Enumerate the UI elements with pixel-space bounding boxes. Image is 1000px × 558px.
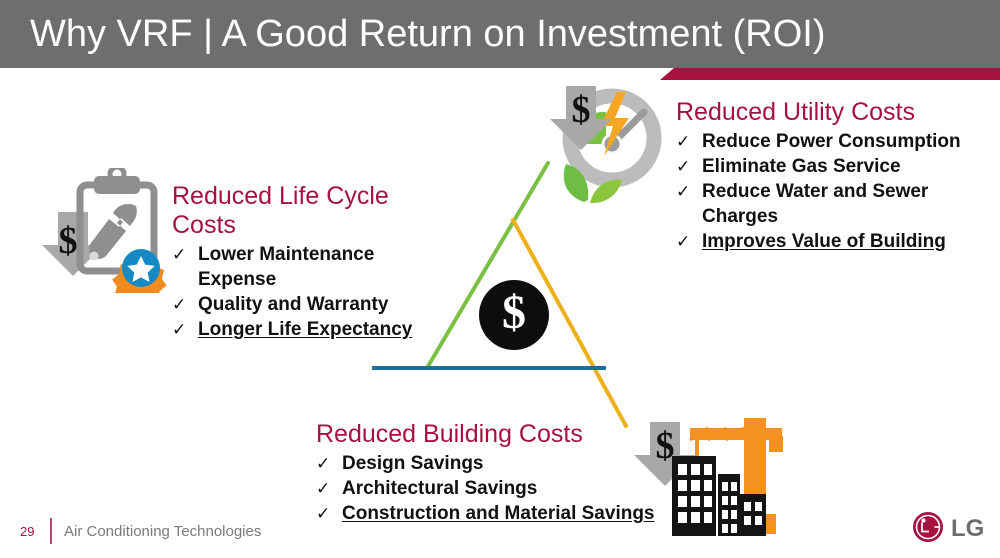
list-item-label: Longer Life Expectancy — [198, 317, 434, 342]
dollar-coin-icon: $ — [479, 280, 549, 350]
footer-label: Air Conditioning Technologies — [64, 523, 261, 540]
check-icon: ✓ — [316, 476, 342, 501]
lg-logo-text: LG — [951, 515, 984, 542]
reduced-utility-costs-block: Reduced Utility Costs ✓ Reduce Power Con… — [676, 98, 988, 254]
list-item-label: Reduce Power Consumption — [702, 129, 988, 154]
wrench-icon — [89, 204, 137, 261]
svg-text:$: $ — [59, 220, 78, 262]
list-item: ✓ Design Savings — [316, 451, 686, 476]
check-icon: ✓ — [172, 242, 198, 267]
block-heading: Reduced Building Costs — [316, 420, 686, 449]
list-item: ✓ Eliminate Gas Service — [676, 154, 988, 179]
list-item-label: Eliminate Gas Service — [702, 154, 988, 179]
check-icon: ✓ — [316, 451, 342, 476]
list-item-label: Construction and Material Savings — [342, 501, 686, 526]
list-item-label: Architectural Savings — [342, 476, 686, 501]
lg-logo: LG — [913, 511, 987, 543]
check-icon: ✓ — [172, 317, 198, 342]
footer-divider — [50, 518, 52, 544]
gauge-lightning-leaf-icon: $ — [548, 86, 678, 204]
check-icon: ✓ — [676, 179, 702, 204]
list-item-label: Design Savings — [342, 451, 686, 476]
page-number: 29 — [20, 524, 34, 539]
benefit-list: ✓ Design Savings ✓ Architectural Savings… — [316, 451, 686, 526]
lg-logo-mark — [913, 512, 943, 542]
list-item-label: Quality and Warranty — [198, 292, 434, 317]
list-item: ✓ Lower Maintenance Expense — [172, 242, 434, 292]
list-item: ✓ Reduce Water and Sewer Charges — [676, 179, 988, 229]
check-icon: ✓ — [172, 292, 198, 317]
list-item: ✓ Improves Value of Building — [676, 229, 988, 254]
list-item-label: Reduce Water and Sewer Charges — [702, 179, 988, 229]
quality-badge-icon — [112, 249, 166, 293]
block-heading: Reduced Life Cycle Costs — [172, 182, 434, 240]
list-item: ✓ Quality and Warranty — [172, 292, 434, 317]
benefit-list: ✓ Lower Maintenance Expense ✓ Quality an… — [172, 242, 434, 342]
list-item-label: Improves Value of Building — [702, 229, 988, 254]
reduced-building-costs-block: Reduced Building Costs ✓ Design Savings … — [316, 420, 686, 526]
list-item: ✓ Construction and Material Savings — [316, 501, 686, 526]
check-icon: ✓ — [676, 154, 702, 179]
dollar-coin-symbol: $ — [502, 289, 526, 337]
slide-canvas: Why VRF | A Good Return on Investment (R… — [0, 0, 1000, 558]
reduced-life-cycle-costs-block: Reduced Life Cycle Costs ✓ Lower Mainten… — [172, 182, 434, 342]
list-item: ✓ Reduce Power Consumption — [676, 129, 988, 154]
check-icon: ✓ — [676, 129, 702, 154]
svg-text:$: $ — [572, 89, 591, 131]
list-item-label: Lower Maintenance Expense — [198, 242, 434, 292]
check-icon: ✓ — [676, 229, 702, 254]
clipboard-wrench-badge-icon: $ — [32, 168, 172, 293]
list-item: ✓ Architectural Savings — [316, 476, 686, 501]
benefit-list: ✓ Reduce Power Consumption ✓ Eliminate G… — [676, 129, 988, 254]
check-icon: ✓ — [316, 501, 342, 526]
block-heading: Reduced Utility Costs — [676, 98, 988, 127]
page-title: Why VRF | A Good Return on Investment (R… — [30, 13, 826, 55]
list-item: ✓ Longer Life Expectancy — [172, 317, 434, 342]
slide-title-bar: Why VRF | A Good Return on Investment (R… — [0, 0, 1000, 68]
title-accent-bar — [660, 68, 1000, 80]
